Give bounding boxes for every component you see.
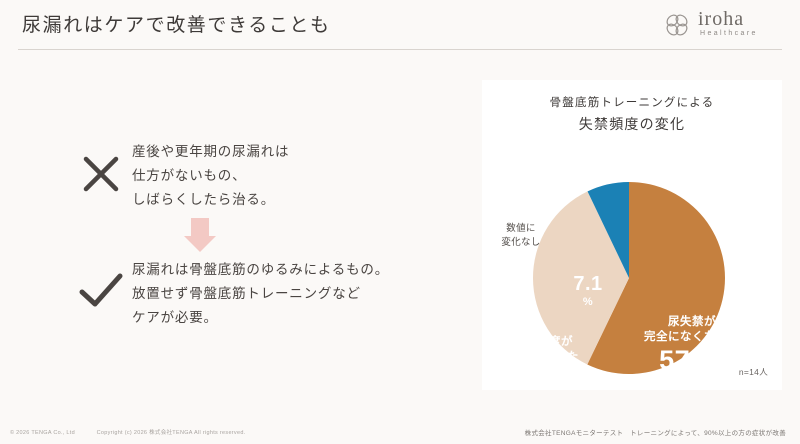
logo-wordmark: iroha (698, 8, 744, 30)
footer-copyright: © 2026 TENGA Co., Ltd Copyright (c) 2026… (10, 428, 246, 436)
fact-statement: 尿漏れは骨盤底筋のゆるみによるもの。 放置せず骨盤底筋トレーニングなど ケアが必… (70, 258, 450, 330)
check-mark-icon (78, 272, 124, 312)
chart-card: 骨盤底筋トレーニングによる 失禁頻度の変化 数値に 変化なし 尿失禁が 完全にな… (482, 80, 782, 390)
logo-tagline: Healthcare (700, 30, 758, 37)
sample-size-note: n=14人 (739, 366, 768, 378)
chart-title: 骨盤底筋トレーニングによる 失禁頻度の変化 (482, 94, 782, 135)
misconception-line-2: 仕方がないもの、 (132, 164, 289, 188)
chart-title-line-1: 骨盤底筋トレーニングによる (482, 94, 782, 113)
left-content: 産後や更年期の尿漏れは 仕方がないもの、 しばらくしたら治る。 尿漏れは骨盤底筋… (70, 140, 450, 330)
misconception-line-3: しばらくしたら治る。 (132, 188, 289, 212)
fact-text: 尿漏れは骨盤底筋のゆるみによるもの。 放置せず骨盤底筋トレーニングなど ケアが必… (132, 258, 389, 330)
misconception-line-1: 産後や更年期の尿漏れは (132, 140, 289, 164)
fact-line-3: ケアが必要。 (132, 306, 389, 330)
page-title: 尿漏れはケアで改善できることも (22, 10, 331, 37)
chart-title-line-2: 失禁頻度の変化 (482, 113, 782, 135)
arrow-shaft (191, 218, 209, 236)
pie-chart-svg (482, 175, 782, 375)
misconception-statement: 産後や更年期の尿漏れは 仕方がないもの、 しばらくしたら治る。 (70, 140, 450, 212)
pie-chart: 尿失禁が 完全になくなった 57.1% 頻度が 減少した 35.7% 7.1 % (482, 175, 782, 375)
iroha-flower-icon (662, 10, 692, 40)
footer-source-note: 株式会社TENGAモニターテスト トレーニングによって、90%以上の方の症状が改… (525, 427, 786, 437)
footer-copyright-short: © 2026 TENGA Co., Ltd (10, 430, 75, 436)
slide-canvas: 尿漏れはケアで改善できることも iroha Healthcare (0, 0, 800, 444)
transition-arrow (70, 212, 450, 258)
fact-line-1: 尿漏れは骨盤底筋のゆるみによるもの。 (132, 258, 389, 282)
misconception-text: 産後や更年期の尿漏れは 仕方がないもの、 しばらくしたら治る。 (132, 140, 289, 212)
header-divider (18, 49, 782, 50)
x-mark-icon (81, 154, 121, 194)
fact-line-2: 放置せず骨盤底筋トレーニングなど (132, 282, 389, 306)
brand-logo: iroha Healthcare (662, 6, 782, 46)
check-mark-slot (70, 258, 132, 312)
footer-rights: Copyright (c) 2026 株式会社TENGA All rights … (97, 430, 246, 436)
arrow-head (184, 236, 216, 252)
slide-header: 尿漏れはケアで改善できることも iroha Healthcare (0, 0, 800, 55)
pie-value-reduced-pct: % (574, 375, 585, 389)
x-mark-slot (70, 140, 132, 194)
